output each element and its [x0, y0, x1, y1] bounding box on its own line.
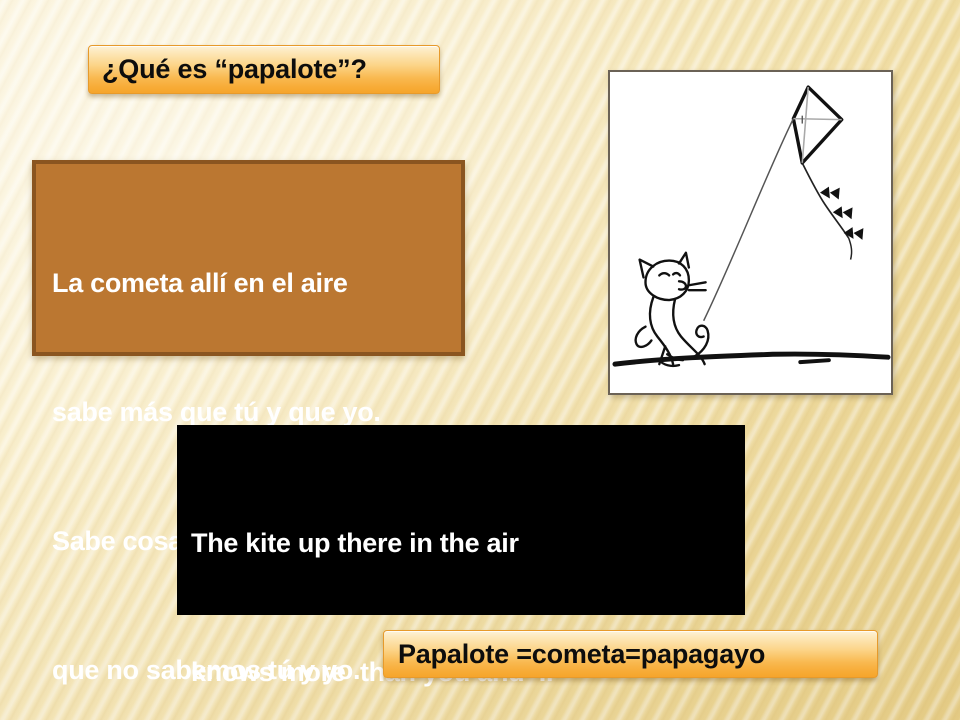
english-poem-box: The kite up there in the air knows more …: [177, 425, 745, 615]
title-banner-label: ¿Qué es “papalote”?: [102, 54, 367, 85]
kite-illustration-frame: [608, 70, 893, 395]
kite-illustration-icon: [610, 72, 891, 393]
footer-banner: Papalote =cometa=papagayo: [383, 630, 878, 678]
spanish-poem-box: La cometa allí en el aire sabe más que t…: [32, 160, 465, 356]
title-banner: ¿Qué es “papalote”?: [88, 45, 440, 94]
slide-canvas: ¿Qué es “papalote”? La cometa allí en el…: [0, 0, 960, 720]
english-poem-line-1: The kite up there in the air: [191, 522, 745, 565]
spanish-poem-line-1: La cometa allí en el aire: [52, 262, 461, 305]
footer-banner-label: Papalote =cometa=papagayo: [398, 639, 765, 670]
